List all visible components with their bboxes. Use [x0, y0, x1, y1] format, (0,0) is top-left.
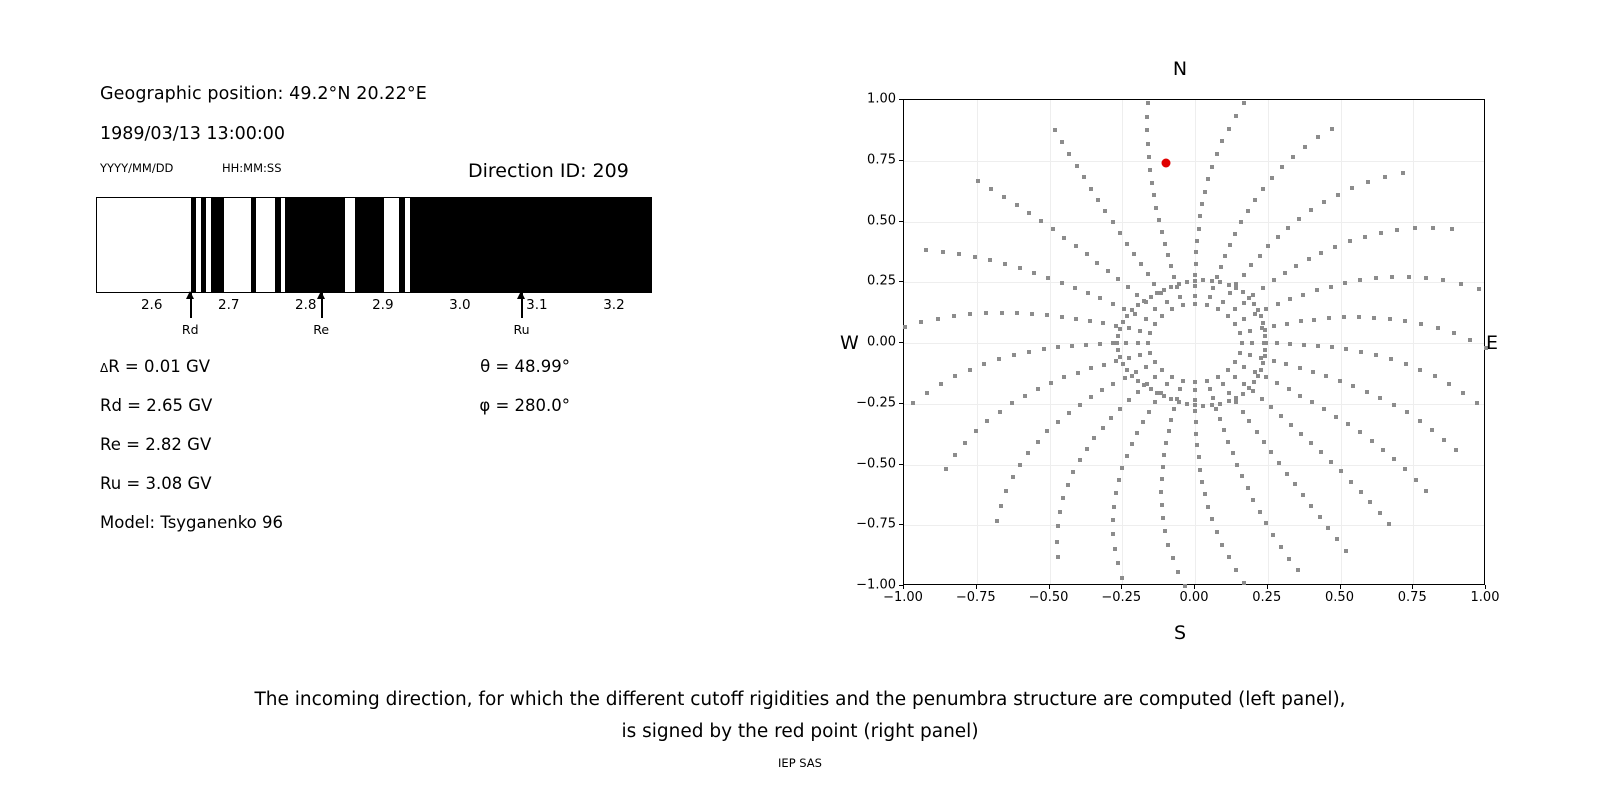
sky-map-point: [1142, 383, 1146, 387]
sky-map-point: [1142, 299, 1146, 303]
sky-map-point: [1349, 480, 1353, 484]
sky-map-point: [1118, 407, 1122, 411]
sky-map-point: [1056, 524, 1060, 528]
sky-map-point: [1096, 198, 1100, 202]
sky-map-point: [1259, 368, 1263, 372]
grid-line-vertical: [1341, 100, 1342, 584]
sky-map-point: [1407, 275, 1411, 279]
sky-map-point: [903, 325, 907, 329]
sky-map-point: [1201, 404, 1205, 408]
sky-map-point: [1056, 420, 1060, 424]
sky-map-point: [1126, 285, 1130, 289]
sky-map-point: [1338, 379, 1342, 383]
sky-map-point: [1287, 387, 1291, 391]
sky-map-point: [973, 255, 977, 259]
sky-map-point: [1003, 262, 1007, 266]
sky-map-point: [1258, 510, 1262, 514]
sky-map-point: [957, 252, 961, 256]
sky-map-point: [1169, 285, 1173, 289]
sky-map-point: [1242, 317, 1246, 321]
sky-map-point: [1194, 262, 1198, 266]
sky-map-point: [1116, 348, 1120, 352]
delta-symbol: Δ: [100, 361, 108, 375]
rigidity-axis: 2.62.72.82.93.03.13.2RdReRu: [96, 293, 652, 294]
sky-map-point: [1210, 517, 1214, 521]
sky-map-point: [1146, 142, 1150, 146]
sky-map-point: [1346, 422, 1350, 426]
sky-map-point: [1122, 307, 1126, 311]
sky-map-point: [1136, 303, 1140, 307]
sky-map-point: [1027, 211, 1031, 215]
sky-map-point: [1270, 176, 1274, 180]
sky-map-point: [1233, 322, 1237, 326]
sky-map-point: [952, 314, 956, 318]
sky-map-point: [939, 382, 943, 386]
sky-map-point: [1138, 329, 1142, 333]
sky-map-point: [1127, 356, 1131, 360]
sky-map-point: [1251, 389, 1255, 393]
grid-line-vertical: [1195, 100, 1196, 584]
sky-map-point: [1404, 362, 1408, 366]
sky-map-point: [1436, 326, 1440, 330]
compass-west-label: W: [840, 332, 859, 354]
sky-map-point: [1263, 328, 1267, 332]
sky-map-point: [1241, 410, 1245, 414]
sky-map-point: [1152, 282, 1156, 286]
sky-map-point: [1309, 208, 1313, 212]
sky-map-point: [998, 410, 1002, 414]
sky-map-point: [1316, 135, 1320, 139]
sky-map-point: [1261, 286, 1265, 290]
x-axis-tick-label: 1.00: [1471, 590, 1500, 605]
sky-map-point: [1117, 478, 1121, 482]
sky-map-point: [1086, 291, 1090, 295]
sky-map-point: [1387, 522, 1391, 526]
sky-map-point: [925, 391, 929, 395]
sky-map-point: [919, 320, 923, 324]
sky-map-point: [968, 312, 972, 316]
sky-map-point: [1269, 405, 1273, 409]
figure-caption: The incoming direction, for which the di…: [0, 684, 1600, 748]
sky-map-point: [1242, 301, 1246, 305]
sky-map-point: [1221, 300, 1225, 304]
sky-map-point: [1039, 219, 1043, 223]
sky-map-point: [1165, 382, 1169, 386]
penumbra-forbidden-band: [410, 198, 652, 292]
caption-line-2: is signed by the red point (right panel): [0, 716, 1600, 748]
y-axis-tick-label: 0.75: [867, 152, 896, 167]
sky-map-point: [1251, 293, 1255, 297]
sky-map-point: [1136, 379, 1140, 383]
sky-map-point: [1253, 312, 1257, 316]
sky-map-point: [1162, 453, 1166, 457]
sky-map-point: [1258, 254, 1262, 258]
sky-map-point: [1228, 243, 1232, 247]
sky-map-point: [1269, 450, 1273, 454]
sky-map-point: [1228, 291, 1232, 295]
sky-map-point: [1388, 317, 1392, 321]
sky-map-point: [1414, 478, 1418, 482]
sky-map-point: [1169, 264, 1173, 268]
sky-map-point: [1170, 375, 1174, 379]
x-axis-tick-mark: [976, 585, 977, 589]
sky-map-point: [1288, 342, 1292, 346]
sky-map-point: [1262, 440, 1266, 444]
sky-map-point: [1193, 273, 1197, 277]
sky-map-point: [989, 187, 993, 191]
sky-map-point: [1135, 293, 1139, 297]
y-axis-tick-label: −0.75: [856, 517, 896, 532]
sky-map-point: [1330, 345, 1334, 349]
penumbra-forbidden-band: [399, 198, 404, 292]
arrow-head-icon: [317, 291, 325, 299]
sky-map-point: [1036, 387, 1040, 391]
sky-map-point: [1413, 226, 1417, 230]
sky-map-point: [1193, 403, 1197, 407]
sky-map-point: [1056, 345, 1060, 349]
sky-map-point: [988, 258, 992, 262]
y-axis-tick-mark: [899, 403, 903, 404]
sky-map-point: [1275, 341, 1279, 345]
sky-map-point: [1226, 440, 1230, 444]
rigidity-tick-label: 3.2: [603, 297, 624, 313]
x-axis-tick-mark: [903, 585, 904, 589]
sky-map-point: [1226, 368, 1230, 372]
sky-map-point: [1181, 379, 1185, 383]
sky-map-point: [1372, 316, 1376, 320]
sky-map-point: [1023, 394, 1027, 398]
footer-credit: IEP SAS: [0, 756, 1600, 770]
delta-r-text: R = 0.01 GV: [108, 357, 210, 376]
sky-map-point: [1359, 350, 1363, 354]
penumbra-forbidden-band: [191, 198, 196, 292]
sky-map-point: [1234, 114, 1238, 118]
sky-map-point: [1275, 381, 1279, 385]
sky-map-point: [1200, 202, 1204, 206]
sky-map-point: [974, 429, 978, 433]
sky-map-point: [1378, 511, 1382, 515]
y-axis-tick-mark: [899, 281, 903, 282]
sky-map-point: [1111, 382, 1115, 386]
sky-map-point: [1316, 344, 1320, 348]
datetime-label: 1989/03/13 13:00:00: [100, 124, 285, 144]
x-axis-tick-label: 0.50: [1325, 590, 1354, 605]
sky-map-point: [1163, 529, 1167, 533]
sky-map-point: [1205, 303, 1209, 307]
sky-map-point: [1215, 530, 1219, 534]
arrow-head-icon: [186, 291, 194, 299]
sky-map-point: [1153, 400, 1157, 404]
rigidity-tick-label: 3.1: [526, 297, 547, 313]
sky-map-point: [1256, 374, 1260, 378]
sky-map-point: [1197, 227, 1201, 231]
sky-map-point: [1216, 307, 1220, 311]
y-axis-tick-label: 1.00: [867, 92, 896, 107]
sky-map-point: [1210, 279, 1214, 283]
sky-map-point: [1419, 322, 1423, 326]
sky-map-point: [1125, 368, 1129, 372]
sky-map-point: [1062, 236, 1066, 240]
penumbra-forbidden-band: [285, 198, 344, 292]
sky-map-point: [1155, 391, 1159, 395]
x-axis-tick-mark: [1267, 585, 1268, 589]
sky-map-point: [1172, 275, 1176, 279]
sky-map-point: [1211, 286, 1215, 290]
sky-map-point: [1147, 410, 1151, 414]
sky-map-point: [1155, 291, 1159, 295]
sky-map-point: [1263, 334, 1267, 338]
sky-map-point: [1264, 341, 1268, 345]
sky-map-point: [1133, 312, 1137, 316]
sky-map-point: [1370, 439, 1374, 443]
sky-map-point: [1454, 448, 1458, 452]
sky-map-point: [1242, 365, 1246, 369]
sky-map-point: [1241, 392, 1245, 396]
date-format-hint: YYYY/MM/DD: [100, 161, 173, 175]
sky-map-point: [1185, 402, 1189, 406]
sky-map-point: [1125, 242, 1129, 246]
sky-map-point: [1067, 411, 1071, 415]
sky-map-point: [1392, 457, 1396, 461]
grid-line-horizontal: [904, 161, 1484, 162]
y-axis-tick-label: 0.00: [867, 335, 896, 350]
grid-line-horizontal: [904, 525, 1484, 526]
sky-map-point: [1288, 297, 1292, 301]
sky-map-point: [1120, 466, 1124, 470]
sky-map-point: [1114, 359, 1118, 363]
grid-line-vertical: [1050, 100, 1051, 584]
sky-map-point: [1431, 226, 1435, 230]
sky-map-point: [1468, 338, 1472, 342]
sky-map-point: [1201, 278, 1205, 282]
y-axis-tick-mark: [899, 524, 903, 525]
sky-map-point: [1118, 327, 1122, 331]
model-value: Model: Tsyganenko 96: [100, 513, 283, 532]
x-axis-tick-mark: [1121, 585, 1122, 589]
sky-map-point: [1218, 417, 1222, 421]
sky-map-point: [1123, 376, 1127, 380]
grid-line-vertical: [1413, 100, 1414, 584]
left-panel: Geographic position: 49.2°N 20.22°E 1989…: [0, 0, 760, 660]
sky-map-point: [1315, 288, 1319, 292]
sky-map-point: [924, 248, 928, 252]
sky-map-point: [1178, 387, 1182, 391]
sky-map-point: [1074, 317, 1078, 321]
sky-map-point: [1194, 420, 1198, 424]
sky-map-point: [1148, 168, 1152, 172]
sky-map-point: [944, 467, 948, 471]
sky-map-point: [1403, 467, 1407, 471]
sky-map-point: [1264, 375, 1268, 379]
sky-map-point: [1240, 341, 1244, 345]
sky-map-point: [1424, 489, 1428, 493]
sky-map-point: [1042, 347, 1046, 351]
sky-map-point: [1171, 556, 1175, 560]
grid-line-vertical: [1268, 100, 1269, 584]
x-axis-tick-mark: [1194, 585, 1195, 589]
sky-map-point: [1287, 557, 1291, 561]
sky-map-point: [1277, 461, 1281, 465]
grid-line-horizontal: [904, 465, 1484, 466]
sky-map-point: [1266, 244, 1270, 248]
sky-map-point: [1206, 505, 1210, 509]
sky-map-point: [1121, 362, 1125, 366]
sky-map-point: [1026, 451, 1030, 455]
sky-map-point: [1322, 200, 1326, 204]
compass-north-label: N: [1173, 58, 1187, 80]
sky-map-point: [1475, 401, 1479, 405]
sky-map-point: [1154, 206, 1158, 210]
sky-map-point: [1206, 177, 1210, 181]
grid-line-horizontal: [904, 222, 1484, 223]
sky-map-point: [1166, 543, 1170, 547]
sky-map-point: [1130, 308, 1134, 312]
sky-map-point: [1261, 361, 1265, 365]
rd-value: Rd = 2.65 GV: [100, 396, 212, 415]
sky-map-point: [1194, 250, 1198, 254]
sky-map-point: [1309, 441, 1313, 445]
sky-map-point: [1092, 436, 1096, 440]
sky-map-point: [1208, 387, 1212, 391]
sky-map-point: [1374, 276, 1378, 280]
sky-map-point: [1234, 400, 1238, 404]
grid-line-vertical: [1122, 100, 1123, 584]
sky-map-point: [1251, 498, 1255, 502]
sky-map-point: [1248, 353, 1252, 357]
sky-map-point: [1146, 341, 1150, 345]
y-axis-tick-label: −0.25: [856, 395, 896, 410]
sky-map-point: [1118, 355, 1122, 359]
sky-map-point: [1256, 308, 1260, 312]
sky-map-point: [1330, 127, 1334, 131]
sky-map-point: [1153, 375, 1157, 379]
sky-map-point: [1301, 293, 1305, 297]
sky-map-point: [1101, 321, 1105, 325]
sky-map-point: [936, 317, 940, 321]
sky-map-point: [1200, 480, 1204, 484]
compass-east-label: E: [1486, 332, 1498, 354]
sky-map-point: [1285, 322, 1289, 326]
sky-map-point: [1418, 419, 1422, 423]
phi-value: φ = 280.0°: [479, 396, 570, 415]
sky-map-point: [1116, 561, 1120, 565]
sky-map-point: [1181, 303, 1185, 307]
sky-map-point: [1193, 380, 1197, 384]
sky-map-point: [1045, 429, 1049, 433]
sky-map-point: [1363, 235, 1367, 239]
sky-map-point: [1111, 518, 1115, 522]
y-axis-tick-label: −1.00: [856, 578, 896, 593]
sky-map-point: [1163, 242, 1167, 246]
sky-map-point: [1296, 568, 1300, 572]
re-value: Re = 2.82 GV: [100, 435, 211, 454]
sky-map-point: [1165, 300, 1169, 304]
sky-map-point: [1234, 286, 1238, 290]
sky-map-point: [1418, 368, 1422, 372]
sky-map-point: [1153, 360, 1157, 364]
sky-map-point: [1211, 396, 1215, 400]
sky-map-point: [1227, 391, 1231, 395]
sky-map-point: [1164, 441, 1168, 445]
grid-line-vertical: [977, 100, 978, 584]
sky-map-point: [1210, 165, 1214, 169]
sky-map-point: [1153, 307, 1157, 311]
x-axis-tick-label: −0.50: [1029, 590, 1069, 605]
sky-map-point: [1284, 362, 1288, 366]
sky-map-point: [1299, 319, 1303, 323]
sky-map-point: [1276, 302, 1280, 306]
sky-map-point: [1358, 278, 1362, 282]
sky-map-point: [1145, 115, 1149, 119]
sky-map-point: [1220, 543, 1224, 547]
sky-map-point: [1358, 430, 1362, 434]
sky-map-point: [1218, 402, 1222, 406]
sky-map-point: [1150, 181, 1154, 185]
sky-map-point: [1302, 343, 1306, 347]
sky-map-point: [1167, 429, 1171, 433]
sky-map-point: [1103, 209, 1107, 213]
sky-map-point: [1172, 407, 1176, 411]
grid-line-horizontal: [904, 343, 1484, 344]
sky-map-point: [1234, 396, 1238, 400]
sky-map-point: [1070, 344, 1074, 348]
sky-map-point: [1193, 284, 1197, 288]
sky-map-point: [1169, 397, 1173, 401]
sky-map-point: [1238, 351, 1242, 355]
sky-map-point: [1430, 428, 1434, 432]
penumbra-structure-chart: [96, 197, 652, 293]
sky-map-point: [1088, 319, 1092, 323]
sky-map-point: [1084, 343, 1088, 347]
sky-map-point: [1343, 281, 1347, 285]
sky-map-point: [1255, 430, 1259, 434]
sky-map-point: [1049, 381, 1053, 385]
sky-map-point: [1319, 450, 1323, 454]
sky-map-point: [1450, 227, 1454, 231]
sky-map-point: [1159, 490, 1163, 494]
sky-map-point: [1218, 280, 1222, 284]
x-axis-tick-label: 0.25: [1252, 590, 1281, 605]
sky-map-point: [1403, 319, 1407, 323]
sky-map-point: [1280, 165, 1284, 169]
penumbra-forbidden-band: [251, 198, 256, 292]
sky-map-point: [1298, 366, 1302, 370]
sky-map-point: [1012, 353, 1016, 357]
sky-map-point: [1136, 341, 1140, 345]
caption-line-1: The incoming direction, for which the di…: [0, 684, 1600, 716]
sky-map-point: [1145, 128, 1149, 132]
sky-map-point: [1197, 455, 1201, 459]
y-axis-tick-mark: [899, 221, 903, 222]
sky-map-point: [1018, 463, 1022, 467]
sky-map-point: [1223, 254, 1227, 258]
sky-map-point: [1299, 432, 1303, 436]
sky-map-point: [1344, 549, 1348, 553]
arrow-head-icon: [517, 291, 525, 299]
sky-map-point: [1149, 295, 1153, 299]
sky-map-point: [1285, 472, 1289, 476]
sky-map-point: [1383, 175, 1387, 179]
sky-map-point: [1160, 368, 1164, 372]
sky-map-point: [1085, 447, 1089, 451]
sky-map-point: [1045, 313, 1049, 317]
sky-map-point: [1148, 351, 1152, 355]
sky-map-point: [1263, 348, 1267, 352]
sky-map-plot: [903, 99, 1485, 585]
rigidity-tick-label: 2.6: [141, 297, 162, 313]
sky-map-point: [1139, 262, 1143, 266]
sky-map-point: [1442, 438, 1446, 442]
